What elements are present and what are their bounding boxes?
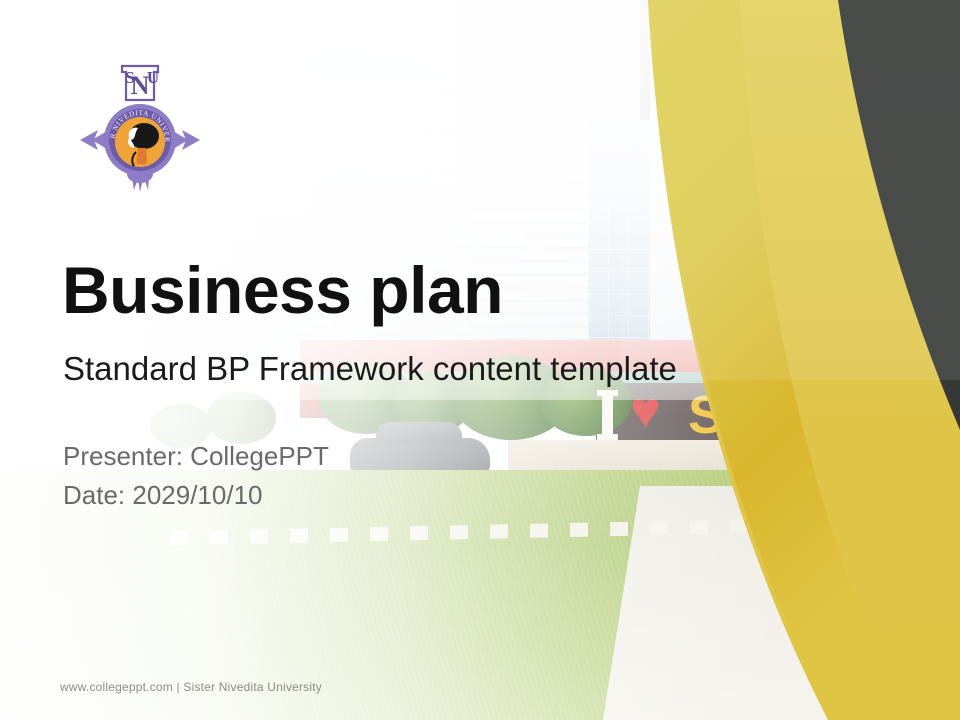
date-line: Date: 2029/10/10 — [63, 482, 263, 508]
shrub — [206, 392, 276, 444]
svg-text:S: S — [125, 68, 134, 87]
i-love-snu-sign: ♥ SNU — [596, 386, 816, 446]
slide-subtitle: Standard BP Framework content template — [63, 352, 677, 385]
sign-letter-n: N — [726, 385, 767, 445]
sign-letter-u: U — [767, 385, 808, 445]
heart-icon: ♥ — [630, 394, 674, 434]
slide-title: Business plan — [62, 257, 503, 323]
university-crest-icon: N S U — [78, 56, 202, 192]
sign-letter-i-icon — [602, 390, 613, 440]
logo-monogram: N S U — [122, 66, 159, 100]
campus-building-tower — [470, 40, 588, 380]
svg-text:U: U — [147, 68, 159, 87]
campus-building-right — [650, 60, 760, 380]
cell-tower-silhouette — [906, 120, 952, 420]
sign-letters-snu: SNU — [688, 384, 808, 446]
sign-letter-s: S — [688, 385, 726, 445]
footer-attribution: www.collegeppt.com | Sister Nivedita Uni… — [60, 680, 322, 694]
presenter-line: Presenter: CollegePPT — [63, 443, 329, 469]
university-logo: N S U — [78, 56, 202, 192]
parked-car — [350, 438, 490, 472]
presentation-slide: ♥ SNU — [0, 0, 960, 720]
